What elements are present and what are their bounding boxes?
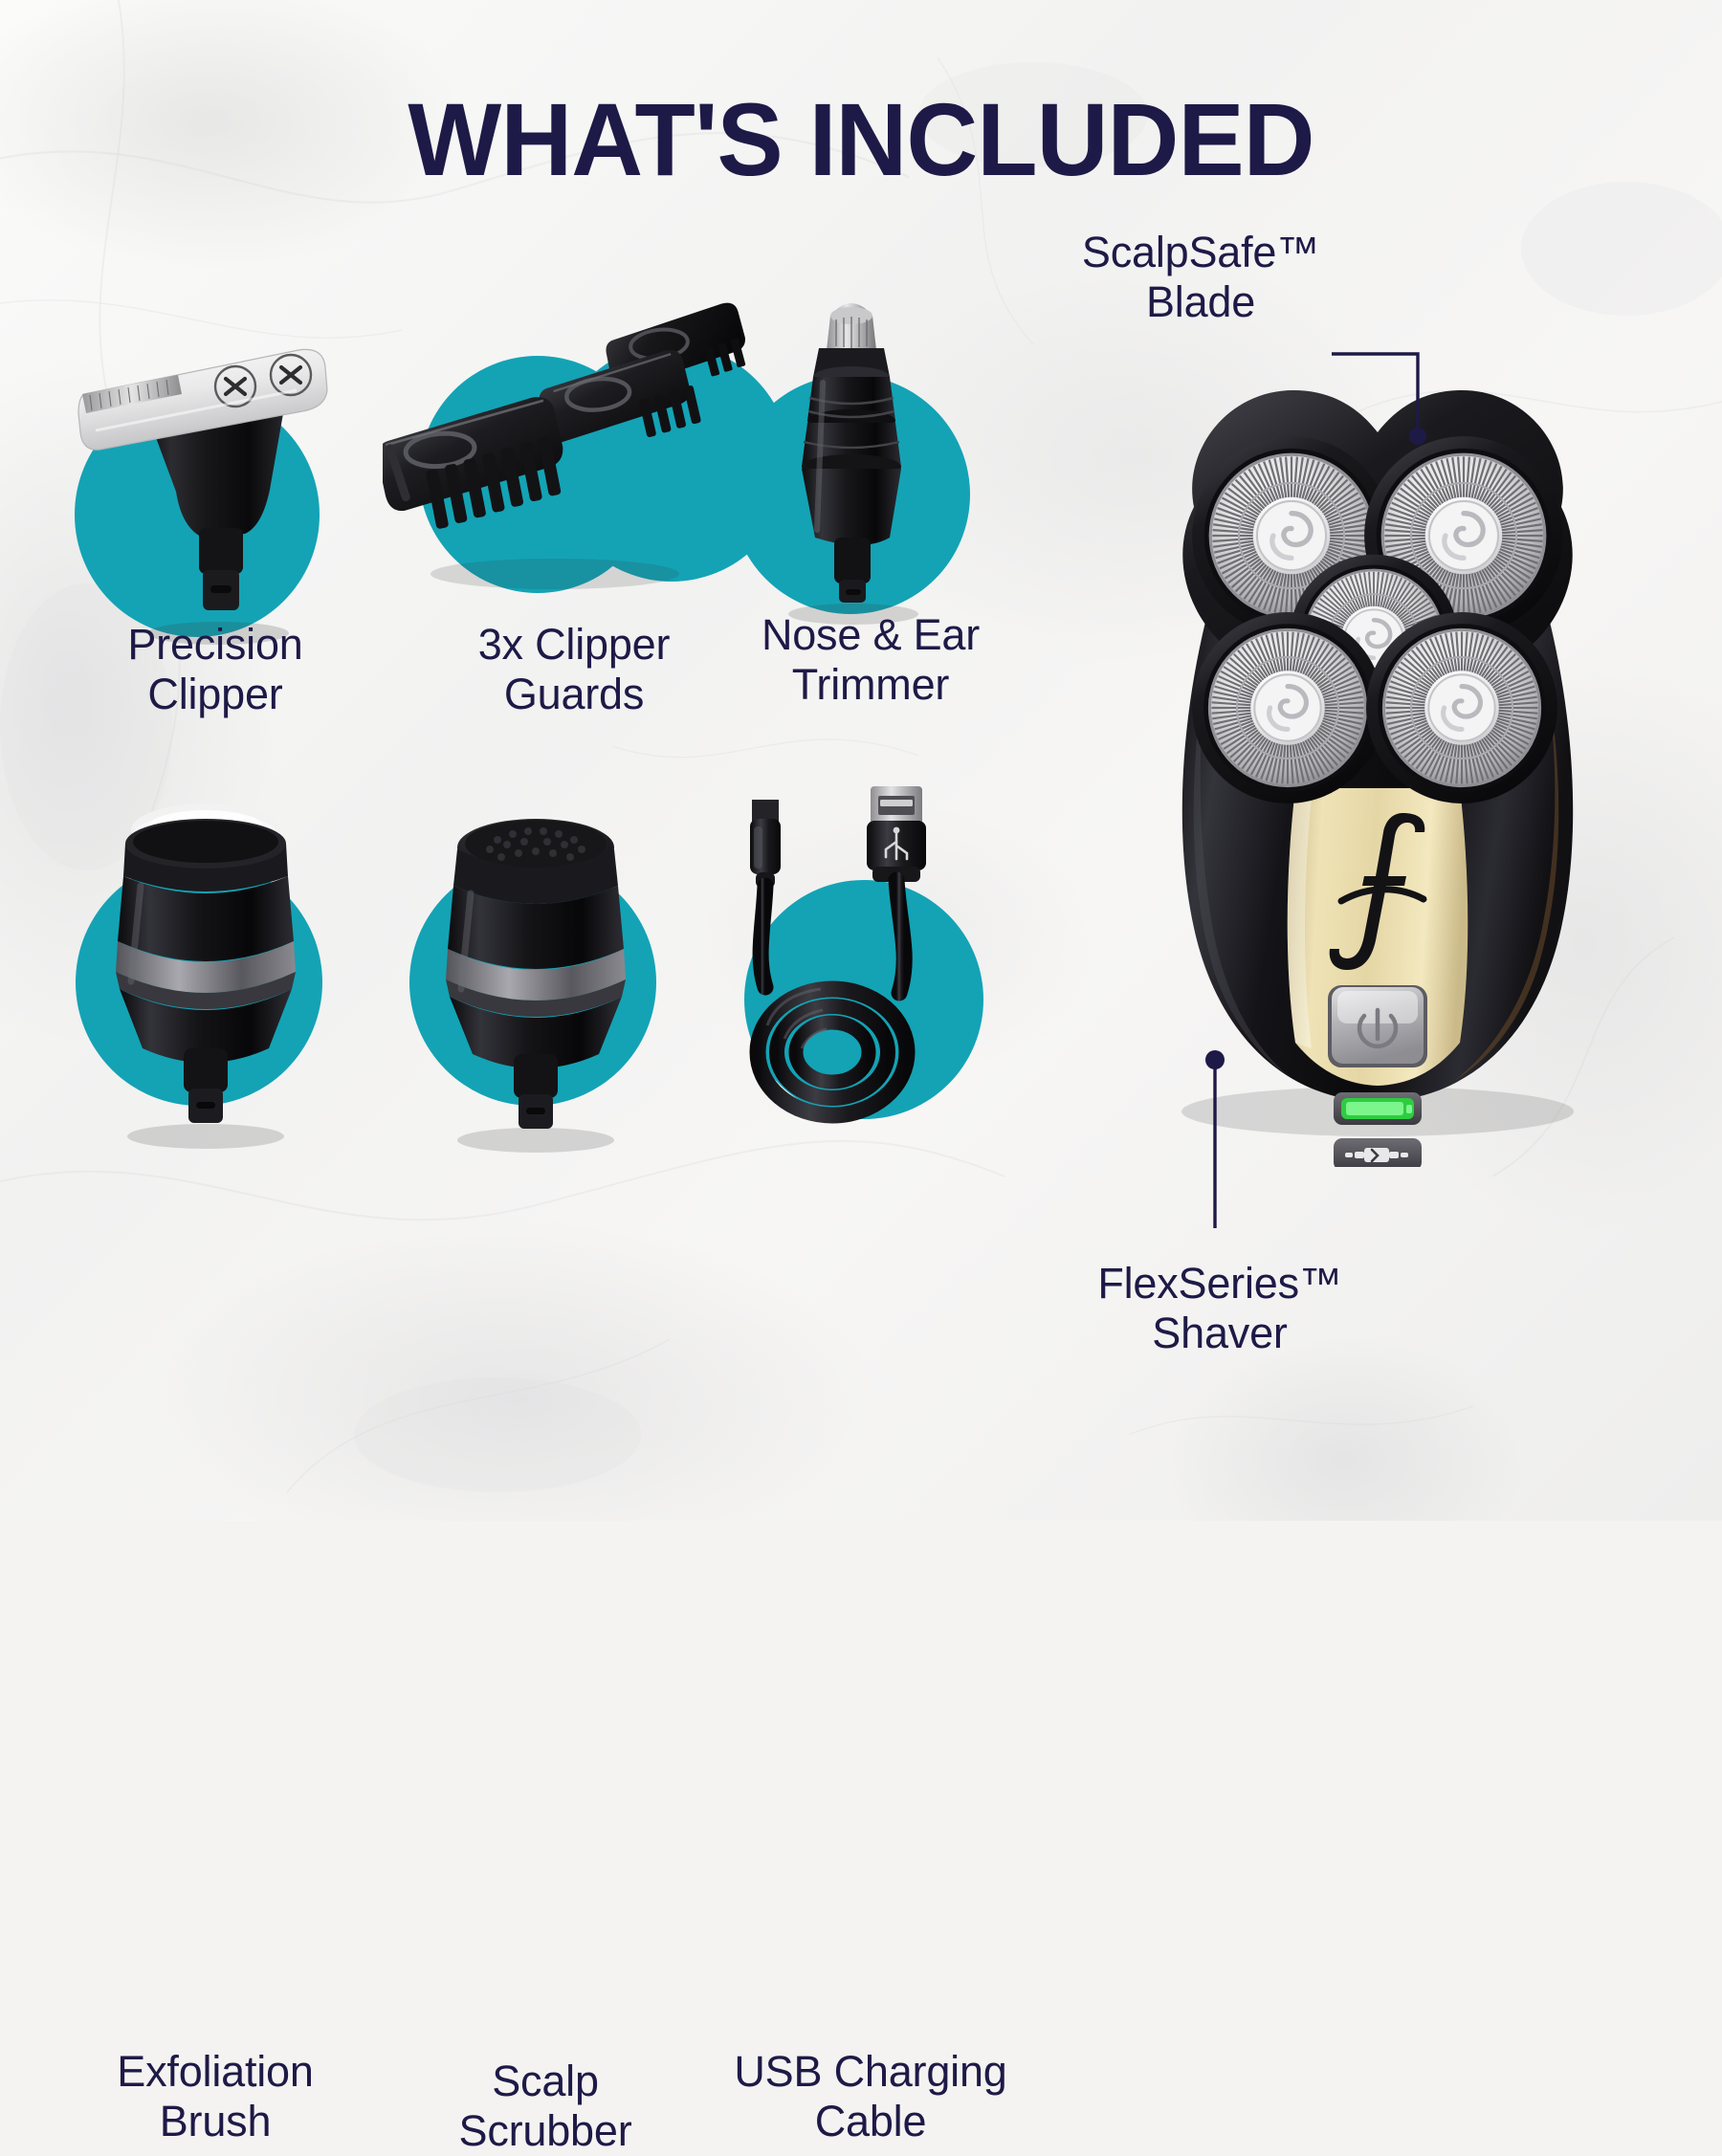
page-title: WHAT'S INCLUDED bbox=[34, 88, 1688, 191]
clipper-head-icon bbox=[57, 287, 373, 670]
item-label: Precision Clipper bbox=[57, 620, 373, 719]
leader-line-scalpsafe bbox=[1330, 277, 1521, 450]
infographic-canvas: WHAT'S INCLUDED bbox=[0, 0, 1722, 1521]
item-label: Nose & Ear Trimmer bbox=[708, 610, 1033, 710]
main-product-shaver bbox=[1091, 335, 1665, 1167]
usb-cable-icon bbox=[708, 765, 1033, 1196]
scalp-scrubber-icon bbox=[383, 794, 708, 1205]
item-nose-ear-trimmer: Nose & Ear Trimmer bbox=[708, 277, 1033, 689]
leader-line-flexseries bbox=[1186, 1050, 1244, 1242]
battery-icon bbox=[1334, 1092, 1422, 1125]
item-precision-clipper: Precision Clipper bbox=[57, 287, 373, 689]
item-exfoliation-brush: Exfoliation Brush bbox=[53, 784, 378, 1205]
callout-scalpsafe-blade: ScalpSafe™ Blade bbox=[1052, 228, 1349, 327]
exfoliation-brush-icon bbox=[53, 784, 378, 1196]
power-button-icon bbox=[1328, 985, 1427, 1067]
item-label: Scalp Scrubber bbox=[383, 2057, 708, 2156]
callout-flexseries-shaver: FlexSeries™ Shaver bbox=[1062, 1259, 1378, 1358]
shaver-illustration bbox=[1091, 335, 1665, 1167]
item-label: Exfoliation Brush bbox=[53, 2047, 378, 2146]
charging-plug-icon bbox=[1334, 1138, 1422, 1167]
item-scalp-scrubber: Scalp Scrubber bbox=[383, 794, 708, 1215]
shaver-head-lower-right bbox=[1366, 612, 1557, 803]
item-label: USB Charging Cable bbox=[708, 2047, 1033, 2146]
item-usb-charging-cable: USB Charging Cable bbox=[708, 765, 1033, 1215]
shaver-head-lower-left bbox=[1192, 612, 1383, 803]
